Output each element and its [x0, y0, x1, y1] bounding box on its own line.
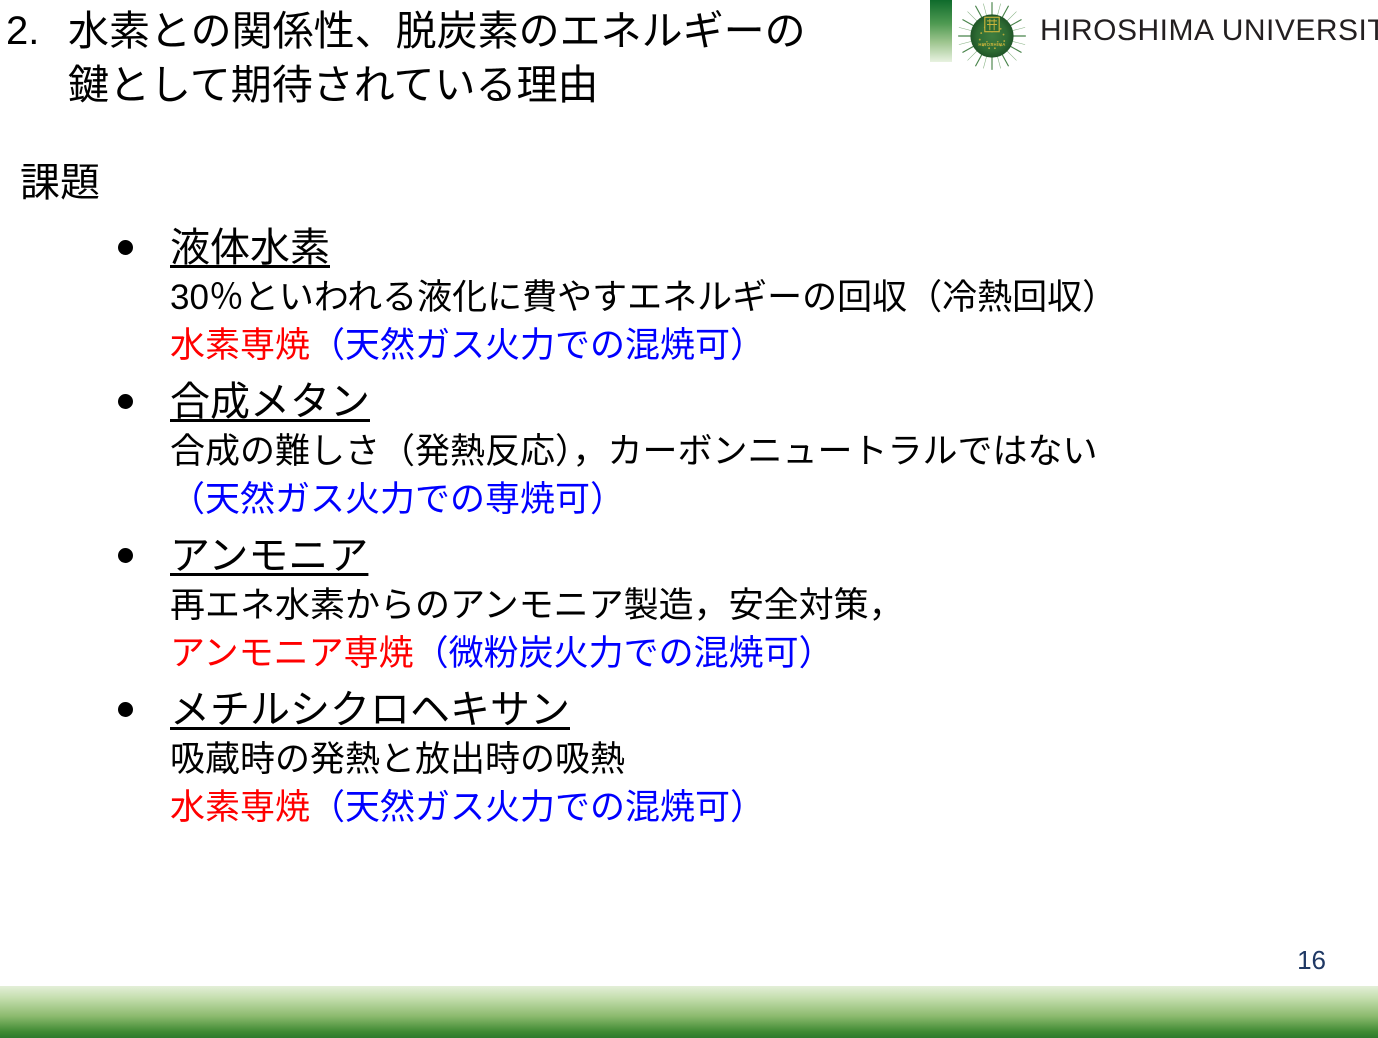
bullet-item-ammonia: アンモニア 再エネ水素からのアンモニア製造，安全対策， アンモニア専焼（微粉炭火… — [112, 530, 1362, 678]
bullet-title: メチルシクロヘキサン — [170, 684, 570, 736]
title-line-1: 水素との関係性、脱炭素のエネルギーの — [68, 4, 916, 58]
text-segment: 30％といわれる液化に費やすエネルギーの回収（冷熱回収） — [170, 278, 1117, 317]
slide-title: 2. 水素との関係性、脱炭素のエネルギーの 鍵として期待されている理由 — [6, 4, 916, 112]
slide-canvas: 2. 水素との関係性、脱炭素のエネルギーの 鍵として期待されている理由 — [0, 0, 1378, 1038]
bullet-line: 合成の難しさ（発熱反応），カーボンニュートラルではない — [170, 428, 1362, 476]
page-number: 16 — [1297, 945, 1326, 976]
title-number: 2. — [6, 4, 68, 58]
text-segment: アンモニア専焼 — [170, 634, 414, 673]
bullet-title: アンモニア — [170, 530, 368, 582]
brand-name: HIROSHIMA UNIVERSITY — [1040, 14, 1378, 48]
bullet-line: アンモニア専焼（微粉炭火力での混焼可） — [170, 630, 1362, 678]
footer-accent-bar — [0, 986, 1378, 1038]
bullet-dot-icon — [118, 394, 133, 409]
text-segment: （天然ガス火力での混焼可） — [310, 326, 765, 365]
section-heading: 課題 — [20, 157, 100, 209]
text-segment: 吸蔵時の発熱と放出時の吸熱 — [170, 740, 625, 779]
bullet-list: 液体水素 30％といわれる液化に費やすエネルギーの回収（冷熱回収） 水素専焼（天… — [112, 222, 1362, 838]
title-text: 水素との関係性、脱炭素のエネルギーの 鍵として期待されている理由 — [68, 4, 916, 112]
bullet-item-synthetic-methane: 合成メタン 合成の難しさ（発熱反応），カーボンニュートラルではない （天然ガス火… — [112, 376, 1362, 524]
bullet-title: 合成メタン — [170, 376, 370, 428]
bullet-item-liquid-hydrogen: 液体水素 30％といわれる液化に費やすエネルギーの回収（冷熱回収） 水素専焼（天… — [112, 222, 1362, 370]
bullet-line: 30％といわれる液化に費やすエネルギーの回収（冷熱回収） — [170, 274, 1362, 322]
bullet-line: （天然ガス火力での専焼可） — [170, 476, 1362, 524]
text-segment: 水素専焼 — [170, 326, 310, 365]
title-row: 2. 水素との関係性、脱炭素のエネルギーの 鍵として期待されている理由 — [6, 4, 916, 112]
bullet-dot-icon — [118, 548, 133, 563]
bullet-line: 水素専焼（天然ガス火力での混焼可） — [170, 784, 1362, 832]
svg-text:HIROSHIMA: HIROSHIMA — [978, 42, 1005, 47]
text-segment: 水素専焼 — [170, 788, 310, 827]
bullet-line: 吸蔵時の発熱と放出時の吸熱 — [170, 736, 1362, 784]
title-line-2: 鍵として期待されている理由 — [68, 58, 916, 112]
bullet-line: 再エネ水素からのアンモニア製造，安全対策， — [170, 582, 1362, 630]
hiroshima-university-emblem-icon: HIROSHIMA — [956, 0, 1028, 72]
bullet-dot-icon — [118, 240, 133, 255]
bullet-item-methylcyclohexane: メチルシクロヘキサン 吸蔵時の発熱と放出時の吸熱 水素専焼（天然ガス火力での混焼… — [112, 684, 1362, 832]
bullet-dot-icon — [118, 702, 133, 717]
text-segment: （天然ガス火力での専焼可） — [170, 480, 625, 519]
text-segment: （天然ガス火力での混焼可） — [310, 788, 765, 827]
text-segment: 再エネ水素からのアンモニア製造，安全対策， — [170, 586, 904, 625]
bullet-line: 水素専焼（天然ガス火力での混焼可） — [170, 322, 1362, 370]
brand-accent-bar — [930, 0, 952, 62]
brand-header: HIROSHIMA HIROSHIMA UNIVERSITY — [930, 0, 1378, 78]
text-segment: （微粉炭火力での混焼可） — [414, 634, 834, 673]
bullet-title: 液体水素 — [170, 222, 330, 274]
text-segment: 合成の難しさ（発熱反応），カーボンニュートラルではない — [170, 432, 1098, 471]
